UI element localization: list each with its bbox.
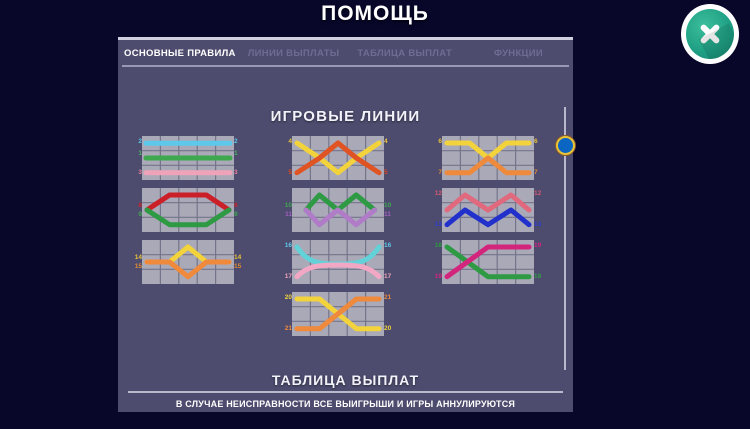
payline-diagram-6: 12 13 (424, 187, 552, 233)
payline-diagram-3: 6 7 (424, 135, 552, 181)
payline-diagram-9: 18 19 (424, 239, 552, 285)
reel-grid (442, 136, 534, 180)
footer-title: ТАБЛИЦА ВЫПЛАТ (118, 372, 573, 388)
payline-diagram-1: 2 1 3 (124, 135, 252, 181)
reel-grid (142, 240, 234, 284)
reel-grid (142, 188, 234, 232)
payline-label: 19 (534, 242, 541, 251)
payline-label: 21 (384, 294, 391, 303)
footer-note: В СЛУЧАЕ НЕИСПРАВНОСТИ ВСЕ ВЫИГРЫШИ И ИГ… (118, 399, 573, 409)
payline-label: 6 (534, 138, 538, 147)
help-panel: ОСНОВНЫЕ ПРАВИЛА ЛИНИИ ВЫПЛАТЫ ТАБЛИЦА В… (118, 37, 573, 412)
paylines-row: 2 1 3 (118, 135, 558, 181)
payline-label: 16 (285, 242, 292, 251)
reel-grid (292, 292, 384, 336)
payline-label: 14 (234, 254, 241, 263)
payline-label: 8 (234, 202, 238, 211)
reel-grid (142, 136, 234, 180)
paylines-row: 14 15 (118, 239, 558, 285)
payline-label: 17 (285, 273, 292, 282)
payline-label: 20 (285, 294, 292, 303)
reel-grid (292, 188, 384, 232)
tab-paytable[interactable]: ТАБЛИЦА ВЫПЛАТ (357, 48, 452, 59)
section-title: ИГРОВЫЕ ЛИНИИ (118, 108, 573, 125)
payline-label: 19 (435, 273, 442, 282)
payline-label: 1 (234, 150, 238, 159)
tab-bar: ОСНОВНЫЕ ПРАВИЛА ЛИНИИ ВЫПЛАТЫ ТАБЛИЦА В… (118, 42, 573, 65)
payline-label: 9 (234, 211, 238, 220)
reel-grid (292, 136, 384, 180)
tab-underline (122, 65, 569, 67)
payline-label: 16 (384, 242, 391, 251)
paylines-row: 8 9 (118, 187, 558, 233)
payline-diagram-4: 8 9 (124, 187, 252, 233)
close-button[interactable] (681, 4, 739, 64)
paylines-row: 20 21 (118, 291, 558, 337)
payline-label: 15 (234, 263, 241, 272)
payline-label: 12 (435, 190, 442, 199)
payline-label: 3 (234, 169, 238, 178)
payline-label: 12 (534, 190, 541, 199)
scrollbar-thumb[interactable] (556, 136, 575, 155)
payline-diagram-5: 10 11 (274, 187, 402, 233)
payline-label: 7 (534, 169, 538, 178)
close-icon (686, 9, 734, 59)
payline-diagram-8: 16 17 (274, 239, 402, 285)
payline-label: 20 (384, 325, 391, 334)
page-title: ПОМОЩЬ (0, 2, 750, 26)
payline-label: 21 (285, 325, 292, 334)
reel-grid (442, 188, 534, 232)
payline-label: 10 (384, 202, 391, 211)
reel-grid (442, 240, 534, 284)
paylines-area: 2 1 3 (118, 135, 558, 343)
help-screen: ПОМОЩЬ ОСНОВНЫЕ ПРАВИЛА ЛИНИИ ВЫПЛАТЫ ТА… (0, 0, 750, 429)
payline-label: 18 (435, 242, 442, 251)
payline-diagram-7: 14 15 (124, 239, 252, 285)
payline-label: 13 (435, 221, 442, 230)
payline-label: 15 (135, 263, 142, 272)
payline-label: 2 (234, 138, 238, 147)
payline-diagram-2: 4 5 (274, 135, 402, 181)
payline-label: 10 (285, 202, 292, 211)
tab-basic-rules[interactable]: ОСНОВНЫЕ ПРАВИЛА (118, 48, 236, 59)
reel-grid (292, 240, 384, 284)
payline-label: 11 (285, 211, 292, 220)
payline-label: 14 (135, 254, 142, 263)
payline-label: 4 (384, 138, 388, 147)
tab-features[interactable]: ФУНКЦИИ (494, 48, 543, 59)
footer-divider (128, 391, 563, 393)
tab-paylines[interactable]: ЛИНИИ ВЫПЛАТЫ (248, 48, 340, 59)
payline-label: 11 (384, 211, 391, 220)
payline-label: 17 (384, 273, 391, 282)
payline-diagram-10: 20 21 (274, 291, 402, 337)
payline-label: 13 (534, 221, 541, 230)
payline-label: 5 (384, 169, 388, 178)
panel-top-divider (118, 37, 573, 40)
payline-label: 18 (534, 273, 541, 282)
